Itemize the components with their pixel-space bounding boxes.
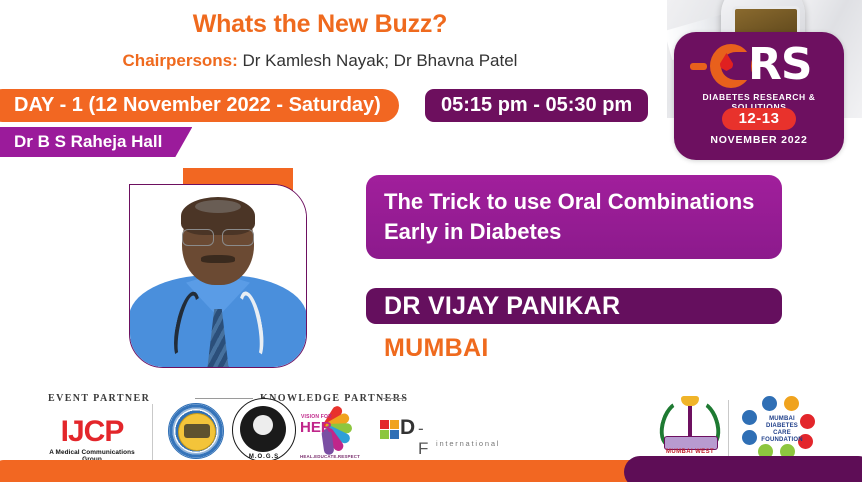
dfoot-square-red: [380, 420, 389, 429]
ijcp-logo: IJCP A Medical Communications Group: [44, 417, 140, 466]
figure-2: [784, 396, 799, 411]
mdcf-label: MUMBAI DIABETES CARE FOUNDATION: [759, 416, 805, 444]
dfoot-letter-d: D: [400, 417, 415, 438]
dfoot-square-orange: [390, 420, 399, 429]
drs-letters: RS: [748, 42, 812, 88]
session-title: Whats the New Buzz?: [0, 10, 640, 39]
figure-7: [742, 430, 757, 445]
dfoot-square-blue: [390, 430, 399, 439]
partner-divider-1: [152, 404, 153, 460]
talk-title: The Trick to use Oral Combinations Early…: [366, 175, 782, 259]
chairpersons-line: Chairpersons: Dr Kamlesh Nayak; Dr Bhavn…: [0, 51, 640, 71]
event-partner-label: EVENT PARTNER: [48, 393, 150, 404]
seal-center: [178, 413, 216, 451]
figure-8: [742, 410, 757, 425]
time-badge: 05:15 pm - 05:30 pm: [425, 89, 648, 122]
eyeglasses-icon: [180, 229, 256, 244]
day-date-badge: DAY - 1 (12 November 2022 - Saturday): [0, 89, 399, 122]
diabetes-association-seal: [168, 403, 224, 459]
speaker-city: MUMBAI: [384, 334, 489, 363]
dfoot-sub: international: [436, 439, 500, 448]
speaker-photo-block: [118, 168, 354, 383]
chairpersons-names: Dr Kamlesh Nayak; Dr Bhavna Patel: [243, 51, 518, 70]
chairpersons-label: Chairpersons:: [123, 51, 238, 70]
drs-logomark: RS: [674, 43, 844, 89]
dash-icon: [690, 63, 707, 70]
vision-for-her-name: HER: [300, 420, 332, 435]
session-slide: RS DIABETES RESEARCH & SOLUTIONS 12-13 N…: [0, 0, 862, 482]
drs-dates-pill: 12-13: [722, 108, 796, 130]
mumbai-west-logo: MUMBAI WEST: [660, 396, 720, 458]
partner-divider-2: [728, 400, 729, 458]
mogs-emblem: [240, 406, 286, 452]
ribbon-banner: [664, 436, 718, 450]
bottom-purple-bar: [624, 456, 862, 482]
rule-right: [383, 398, 405, 399]
figure-1: [762, 396, 777, 411]
mogs-seal: M.O.G.S: [232, 398, 296, 462]
rule-left: [195, 398, 253, 399]
dfoot-square-green: [380, 430, 389, 439]
caduceus-rod: [688, 400, 692, 440]
vision-for-her-logo: VISION FOR HER HEAL.EDUCATE.RESPECT: [300, 400, 372, 462]
moustache: [201, 255, 235, 263]
ijcp-name: IJCP: [44, 417, 140, 447]
mdcf-logo: MUMBAI DIABETES CARE FOUNDATION: [740, 396, 824, 462]
drs-logo: RS DIABETES RESEARCH & SOLUTIONS 12-13 N…: [674, 32, 844, 160]
hall-badge: Dr B S Raheja Hall: [0, 127, 192, 157]
speaker-photo-frame: [129, 184, 307, 368]
vision-for-her-sub: HEAL.EDUCATE.RESPECT: [300, 454, 360, 459]
drs-month-year: NOVEMBER 2022: [674, 134, 844, 146]
speaker-name: DR VIJAY PANIKAR: [366, 288, 782, 324]
bottom-orange-bar: [0, 460, 650, 482]
mumbai-west-label: MUMBAI WEST: [660, 449, 720, 455]
